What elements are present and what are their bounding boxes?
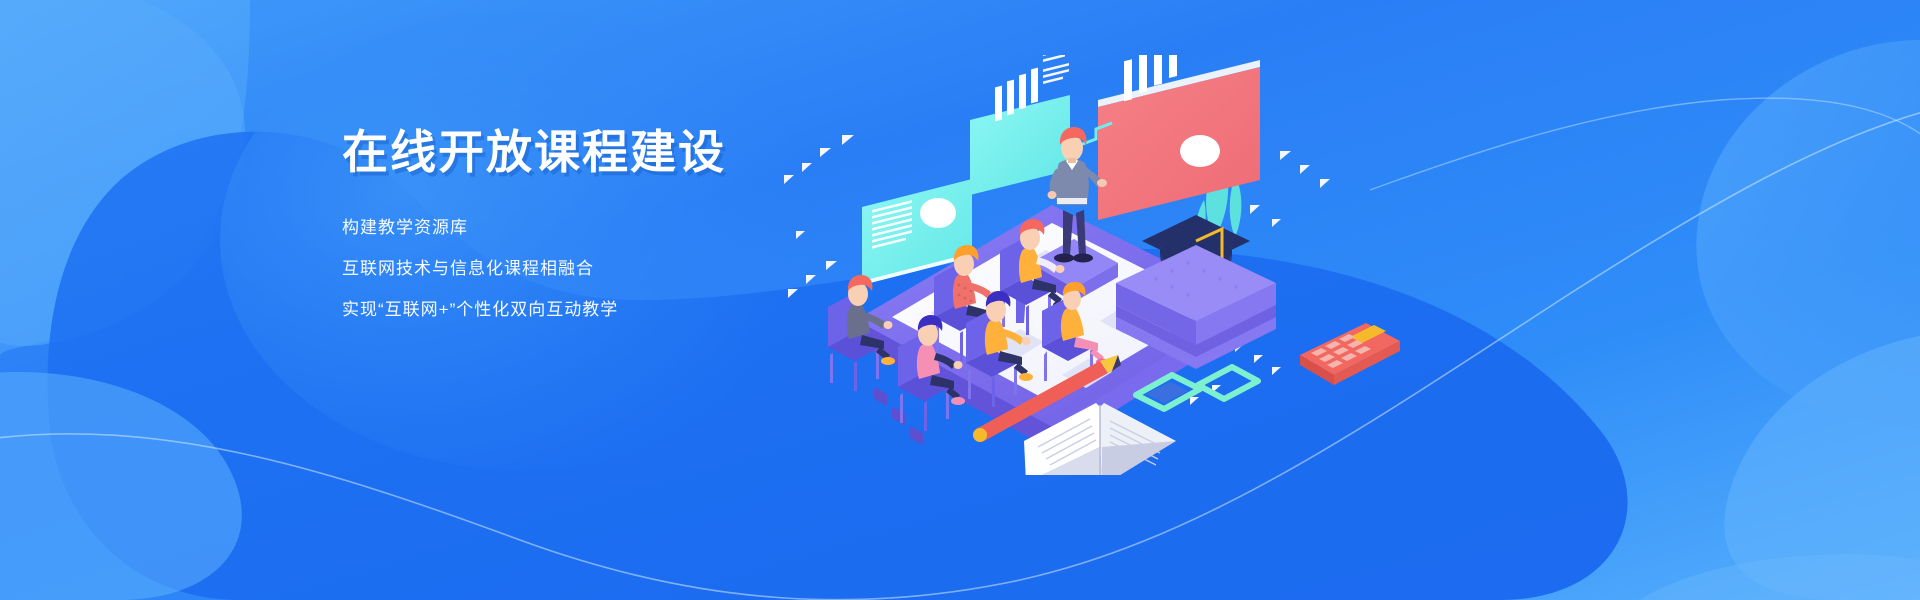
calculator-icon [1300,323,1400,385]
online-classroom-illustration [780,55,1480,475]
banner-subtitle-2: 互联网技术与信息化课程相融合 [342,260,862,277]
banner-subtitle-list: 构建教学资源库 互联网技术与信息化课程相融合 实现“互联网+”个性化双向互动教学 [342,219,862,318]
banner-text-block: 在线开放课程建设 构建教学资源库 互联网技术与信息化课程相融合 实现“互联网+”… [342,126,862,318]
banner-subtitle-1: 构建教学资源库 [342,219,862,236]
banner-title: 在线开放课程建设 [342,126,862,179]
banner-subtitle-3: 实现“互联网+”个性化双向互动教学 [342,301,862,318]
hero-banner: 在线开放课程建设 构建教学资源库 互联网技术与信息化课程相融合 实现“互联网+”… [0,0,1920,600]
